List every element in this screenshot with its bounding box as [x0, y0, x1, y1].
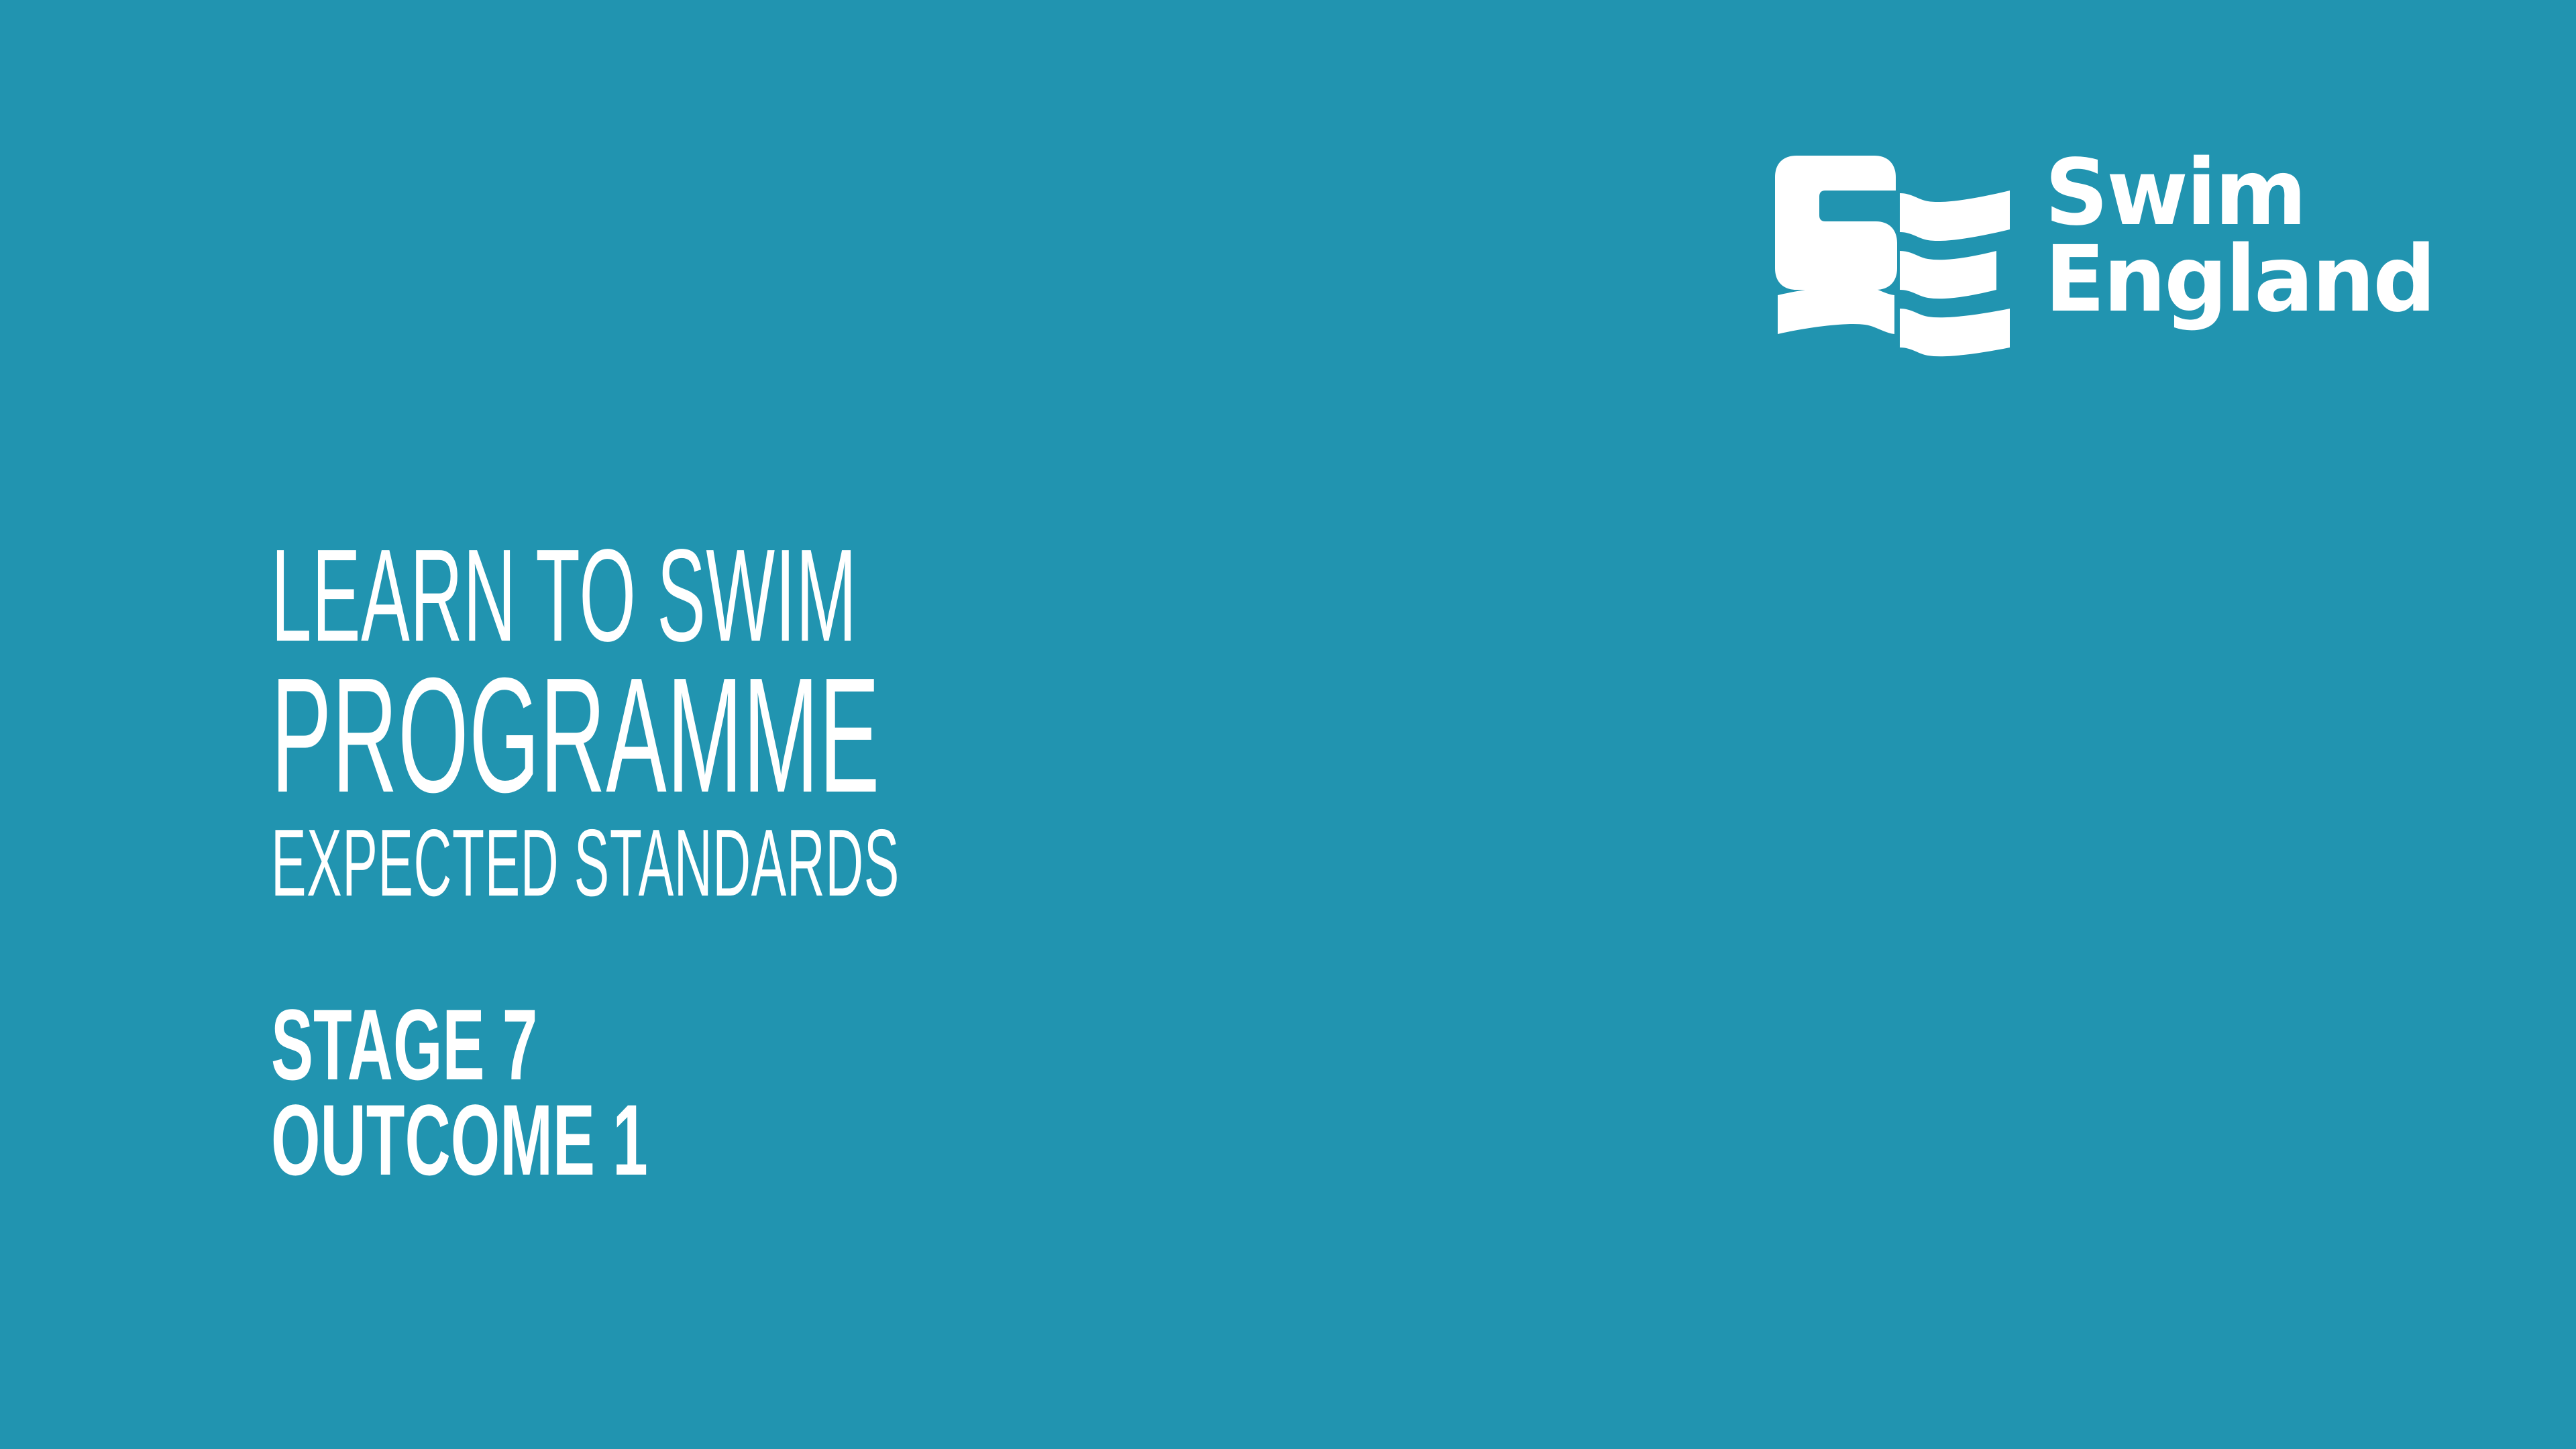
swim-england-logo-mark-icon	[1768, 149, 2021, 362]
brand-wordmark-line-england: England	[2045, 237, 2434, 323]
brand-wordmark: Swim England	[2045, 150, 2447, 323]
brand-wordmark-line-swim: Swim	[2045, 150, 2434, 237]
outcome-label: OUTCOME 1	[271, 1089, 989, 1181]
title-line-programme: PROGRAMME	[271, 653, 904, 802]
title-slide: Swim England LEARN TO SWIM PROGRAMME EXP…	[0, 0, 2576, 1449]
stage-outcome-block: STAGE 7 OUTCOME 1	[271, 994, 1411, 1181]
stage-label: STAGE 7	[271, 994, 989, 1085]
brand-logo[interactable]: Swim England	[1768, 149, 2426, 370]
programme-title-block: LEARN TO SWIM PROGRAMME EXPECTED STANDAR…	[271, 530, 1411, 904]
title-line-learn-to-swim: LEARN TO SWIM	[271, 530, 904, 652]
title-line-expected-standards: EXPECTED STANDARDS	[271, 816, 904, 904]
